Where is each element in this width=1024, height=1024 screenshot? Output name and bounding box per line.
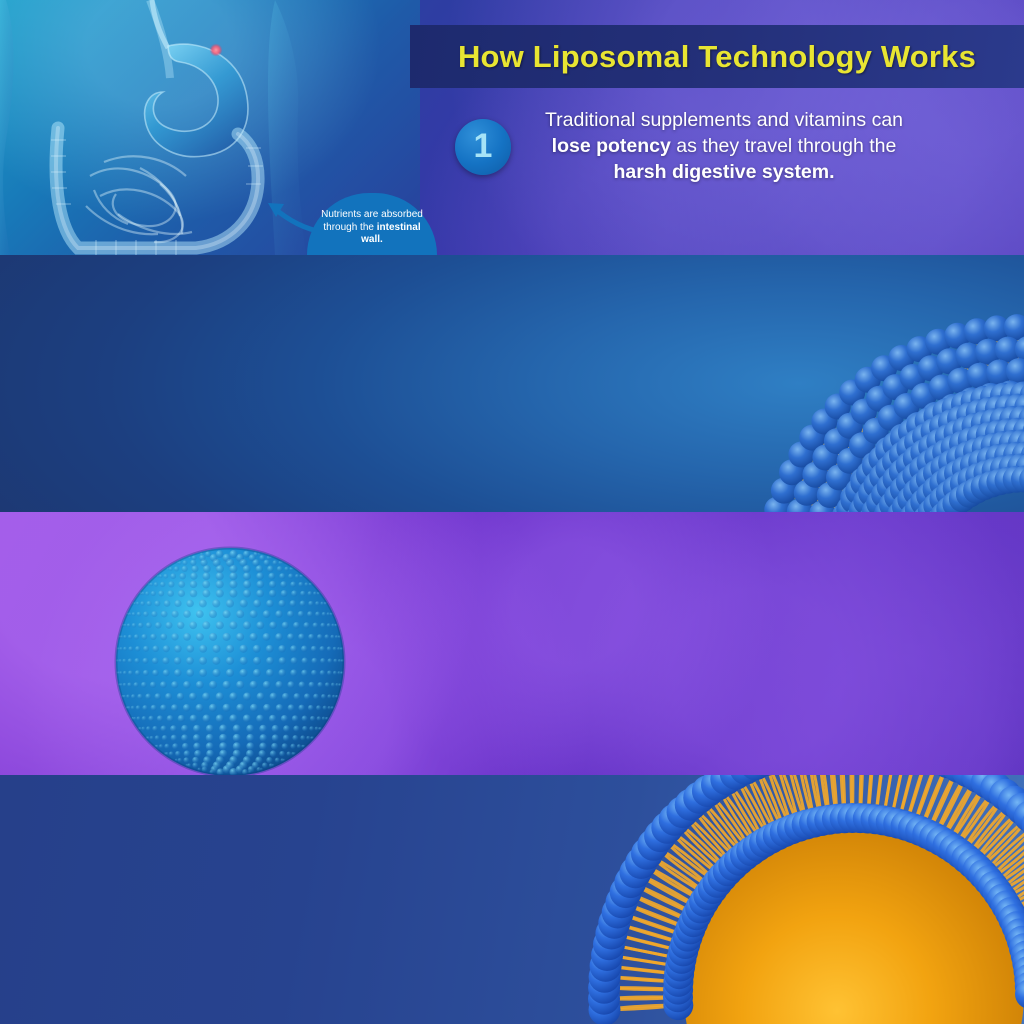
liposome-sphere-illustration (110, 542, 350, 775)
section-step-1: Nutrients are absorbed through the intes… (0, 0, 1024, 255)
step-1-text: Traditional supplements and vitamins can… (533, 108, 915, 186)
section-step-3: 3 This helps shield nutrients from the s… (0, 512, 1024, 775)
infographic-page: Nutrients are absorbed through the intes… (0, 0, 1024, 1024)
section-step-4: 4 Now, more nutrient can reach its desti… (0, 775, 1024, 1024)
section-step-2: Phospholipids are made of the same mater… (0, 255, 1024, 512)
callout-intestinal-wall-text: Nutrients are absorbed through the intes… (307, 201, 437, 247)
title-banner: How Liposomal Technology Works (410, 25, 1024, 88)
step-1-badge: 1 (455, 119, 511, 175)
liposome-cross-section-illustration (464, 775, 1024, 1024)
callout-intestinal-wall: Nutrients are absorbed through the intes… (307, 193, 437, 255)
step-1: 1 Traditional supplements and vitamins c… (455, 108, 915, 186)
phospholipid-membrane-illustration (464, 255, 1024, 512)
page-title: How Liposomal Technology Works (458, 39, 976, 75)
